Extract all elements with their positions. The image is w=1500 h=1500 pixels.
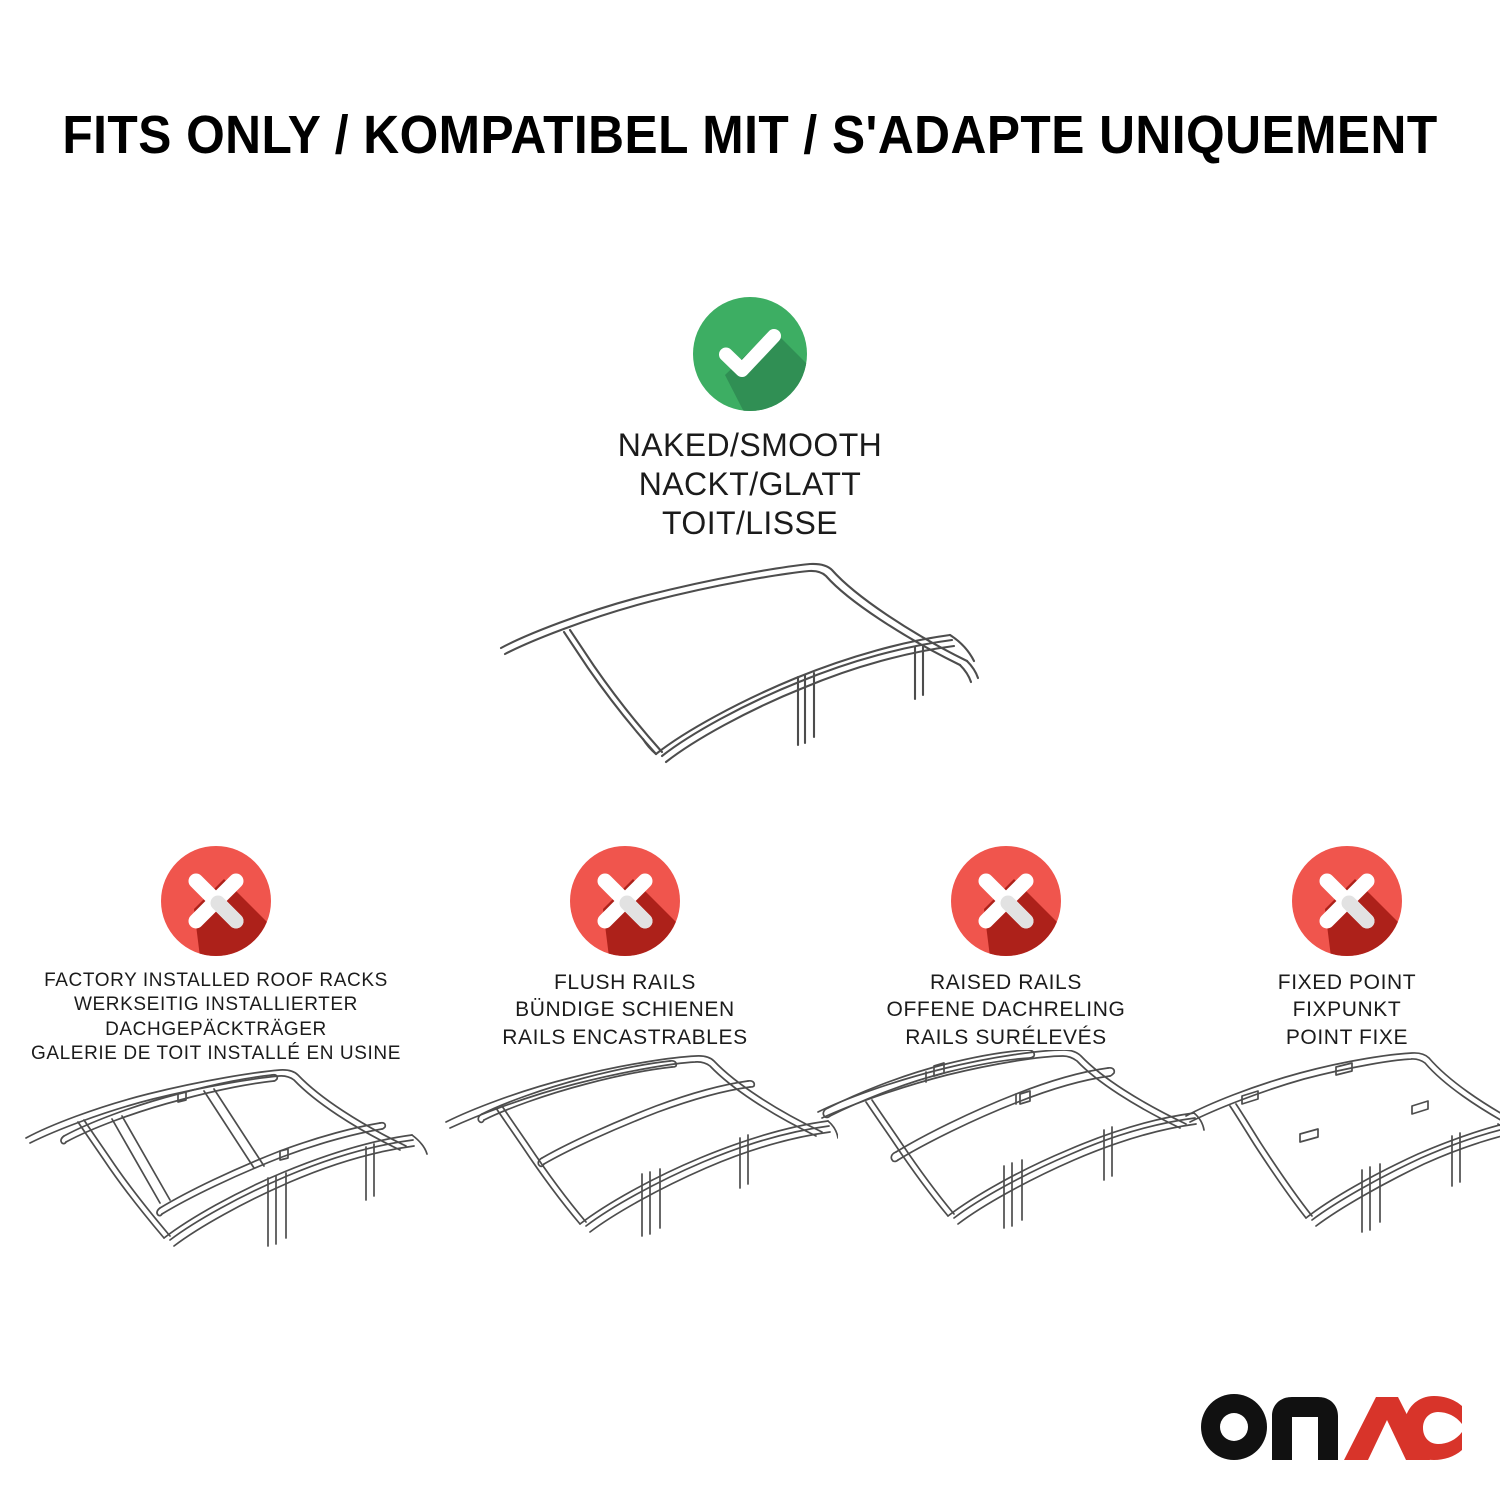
compatible-label: NAKED/SMOOTH NACKT/GLATT TOIT/LISSE <box>0 426 1500 543</box>
compatible-section: NAKED/SMOOTH NACKT/GLATT TOIT/LISSE <box>0 296 1500 809</box>
infographic-page: FITS ONLY / KOMPATIBEL MIT / S'ADAPTE UN… <box>0 0 1500 1500</box>
naked-smooth-roof-illustration <box>480 549 1020 809</box>
cross-icon <box>569 845 681 957</box>
omac-logo: OMAC <box>1200 1392 1462 1462</box>
incompatible-item-fixed-point: FIXED POINT FIXPUNKT POINT FIXE <box>1194 845 1500 1051</box>
incompatible-label: RAISED RAILS OFFENE DACHRELING RAILS SUR… <box>887 969 1126 1051</box>
incompatible-section: FACTORY INSTALLED ROOF RACKS WERKSEITIG … <box>0 845 1500 1066</box>
factory-roof-rack-roof-illustration <box>8 1050 428 1265</box>
check-icon <box>692 296 808 412</box>
logo-letter-m <box>1272 1397 1338 1460</box>
logo-letter-c <box>1404 1396 1462 1460</box>
incompatible-label: FLUSH RAILS BÜNDIGE SCHIENEN RAILS ENCAS… <box>502 969 747 1051</box>
page-title: FITS ONLY / KOMPATIBEL MIT / S'ADAPTE UN… <box>60 104 1440 166</box>
incompatible-item-factory-roof-racks: FACTORY INSTALLED ROOF RACKS WERKSEITIG … <box>0 845 432 1066</box>
cross-icon <box>1291 845 1403 957</box>
fixed-point-roof-illustration <box>1180 1050 1500 1265</box>
raised-rails-roof-illustration <box>814 1050 1214 1265</box>
incompatible-item-flush-rails: FLUSH RAILS BÜNDIGE SCHIENEN RAILS ENCAS… <box>432 845 818 1051</box>
cross-icon <box>950 845 1062 957</box>
flush-rails-roof-illustration <box>438 1050 838 1265</box>
cross-icon <box>160 845 272 957</box>
incompatible-label: FIXED POINT FIXPUNKT POINT FIXE <box>1278 969 1416 1051</box>
incompatible-item-raised-rails: RAISED RAILS OFFENE DACHRELING RAILS SUR… <box>818 845 1194 1051</box>
logo-letter-o <box>1201 1394 1267 1460</box>
